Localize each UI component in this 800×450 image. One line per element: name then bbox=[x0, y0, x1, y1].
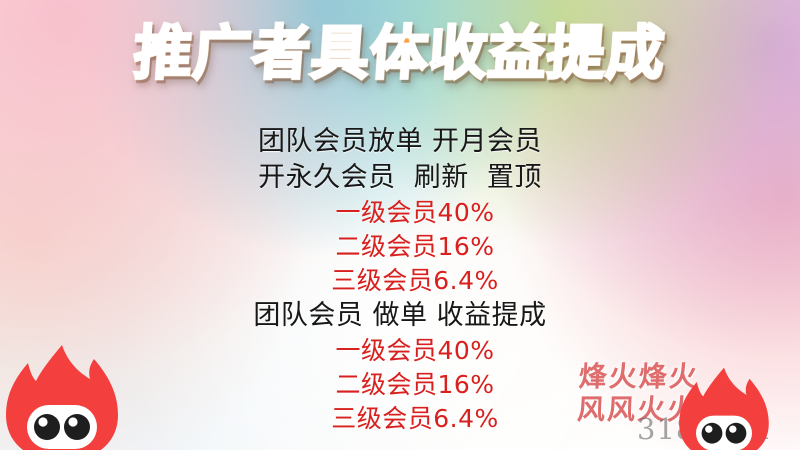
page-title: 推广者具体收益提成 bbox=[132, 22, 667, 85]
section-one-heading-line-2: 开永久会员 刷新 置顶 bbox=[0, 164, 800, 191]
promo-poster: 推广者具体收益提成 团队会员放单 开月会员 开永久会员 刷新 置顶 一级会员40… bbox=[0, 0, 800, 450]
section-one-rate-level-3: 三级会员6.4% bbox=[0, 268, 800, 293]
section-one-rate-level-1: 一级会员40% bbox=[0, 200, 800, 225]
flame-face-logo-right bbox=[676, 366, 772, 450]
title-container: 推广者具体收益提成 bbox=[0, 22, 800, 85]
section-two-heading: 团队会员 做单 收益提成 bbox=[0, 302, 800, 329]
section-one-rate-level-2: 二级会员16% bbox=[0, 234, 800, 259]
flame-face-logo-left bbox=[2, 343, 122, 450]
section-one-heading-line-1: 团队会员放单 开月会员 bbox=[0, 128, 800, 155]
